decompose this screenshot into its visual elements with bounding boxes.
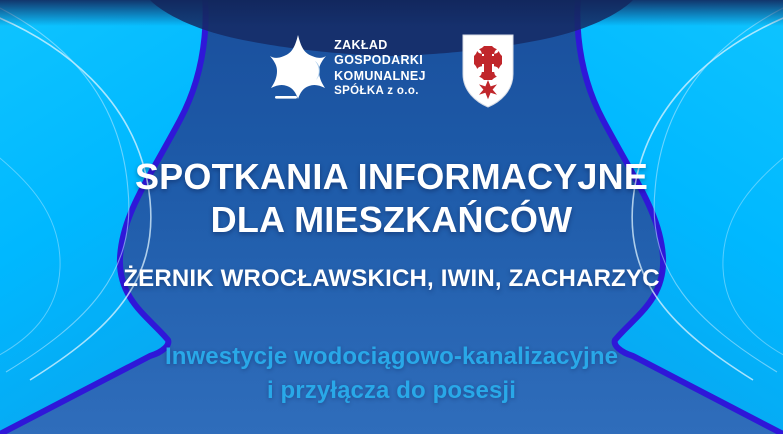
page-title-line-2: DLA MIESZKAŃCÓW: [0, 198, 783, 241]
tagline-block: Inwestycje wodociągowo-kanalizacyjne i p…: [0, 340, 783, 408]
zgk-line-3: KOMUNALNEJ: [334, 69, 426, 84]
tagline-line-2: i przyłącza do posesji: [0, 374, 783, 408]
page-subtitle: ŻERNIK WROCŁAWSKICH, IWIN, ZACHARZYC: [0, 264, 783, 294]
zgk-logo: ZAKŁAD GOSPODARKI KOMUNALNEJ SPÓŁKA z o.…: [269, 34, 426, 100]
coat-of-arms-shield-icon: [462, 34, 514, 108]
tagline-line-1: Inwestycje wodociągowo-kanalizacyjne: [0, 340, 783, 374]
zgk-line-2: GOSPODARKI: [334, 53, 426, 68]
poster-canvas: ZAKŁAD GOSPODARKI KOMUNALNEJ SPÓŁKA z o.…: [0, 0, 783, 434]
page-title-line-1: SPOTKANIA INFORMACYJNE: [0, 155, 783, 198]
logo-row: ZAKŁAD GOSPODARKI KOMUNALNEJ SPÓŁKA z o.…: [0, 34, 783, 108]
zgk-line-4: SPÓŁKA z o.o.: [334, 84, 426, 99]
zgk-line-1: ZAKŁAD: [334, 38, 426, 53]
zgk-wordmark: ZAKŁAD GOSPODARKI KOMUNALNEJ SPÓŁKA z o.…: [334, 36, 426, 99]
six-pointed-star-icon: [269, 34, 327, 100]
poster-content: ZAKŁAD GOSPODARKI KOMUNALNEJ SPÓŁKA z o.…: [0, 0, 783, 434]
headings-block: SPOTKANIA INFORMACYJNE DLA MIESZKAŃCÓW Ż…: [0, 155, 783, 294]
